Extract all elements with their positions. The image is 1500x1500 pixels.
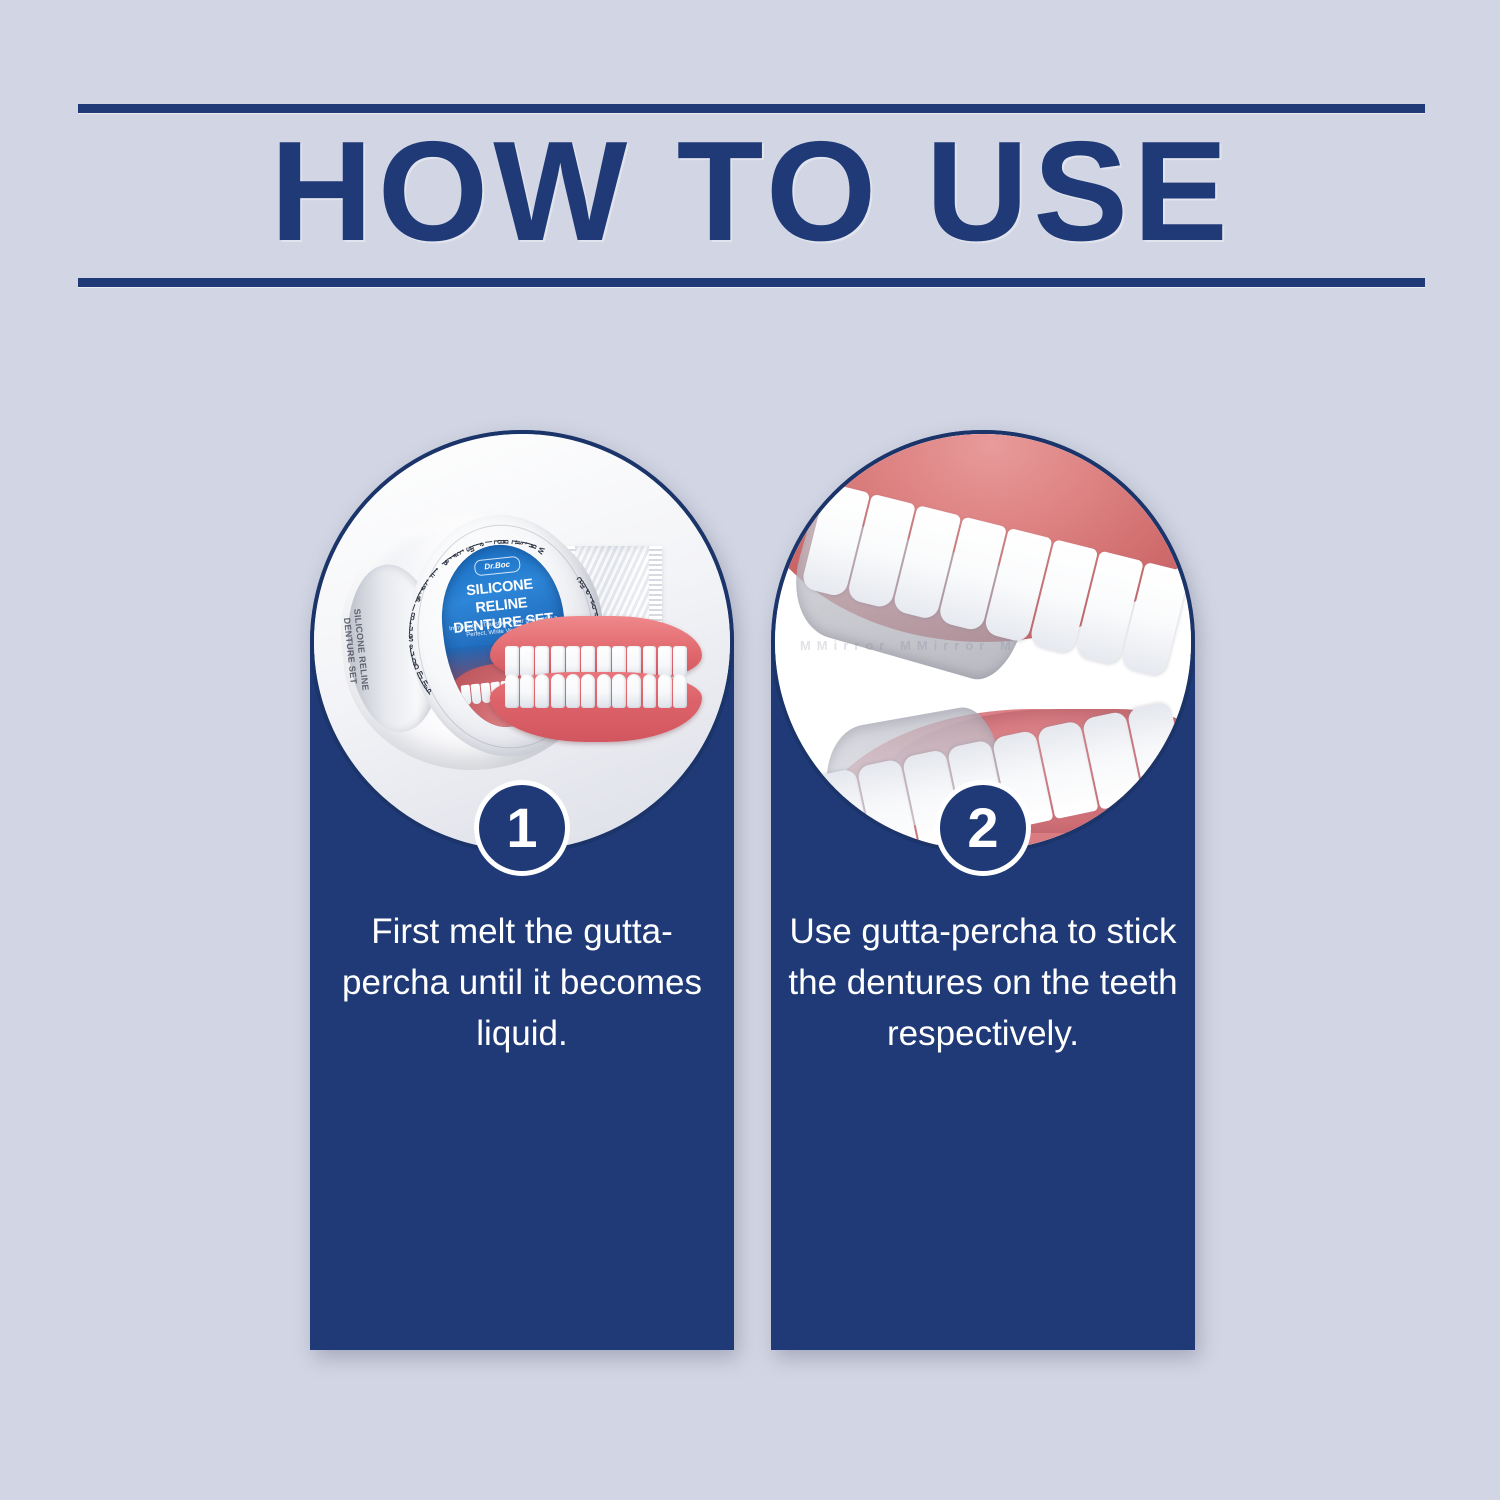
steps-container: SILICONE RELINE DENTURE SET Premium Dent… [0,0,1500,1500]
denture-veneers [490,616,702,744]
step-caption-2: Use gutta-percha to stick the dentures o… [785,906,1181,1059]
step-card-2[interactable]: MMirror MMirror M 2 Use gutta-percha to … [771,430,1195,1350]
image-watermark: MMirror MMirror M [800,638,1174,653]
denture-lower-arch [490,672,702,742]
product-title-line-1: SILICONE RELINE [465,576,533,616]
step-card-1[interactable]: SILICONE RELINE DENTURE SET Premium Dent… [310,430,734,1350]
step-caption-1: First melt the gutta-percha until it bec… [324,906,720,1059]
denture-lower-teeth [505,674,687,708]
step-number-badge-1: 1 [474,780,570,876]
step-number-badge-2: 2 [935,780,1031,876]
brand-logo: Dr.Boc [474,556,521,577]
